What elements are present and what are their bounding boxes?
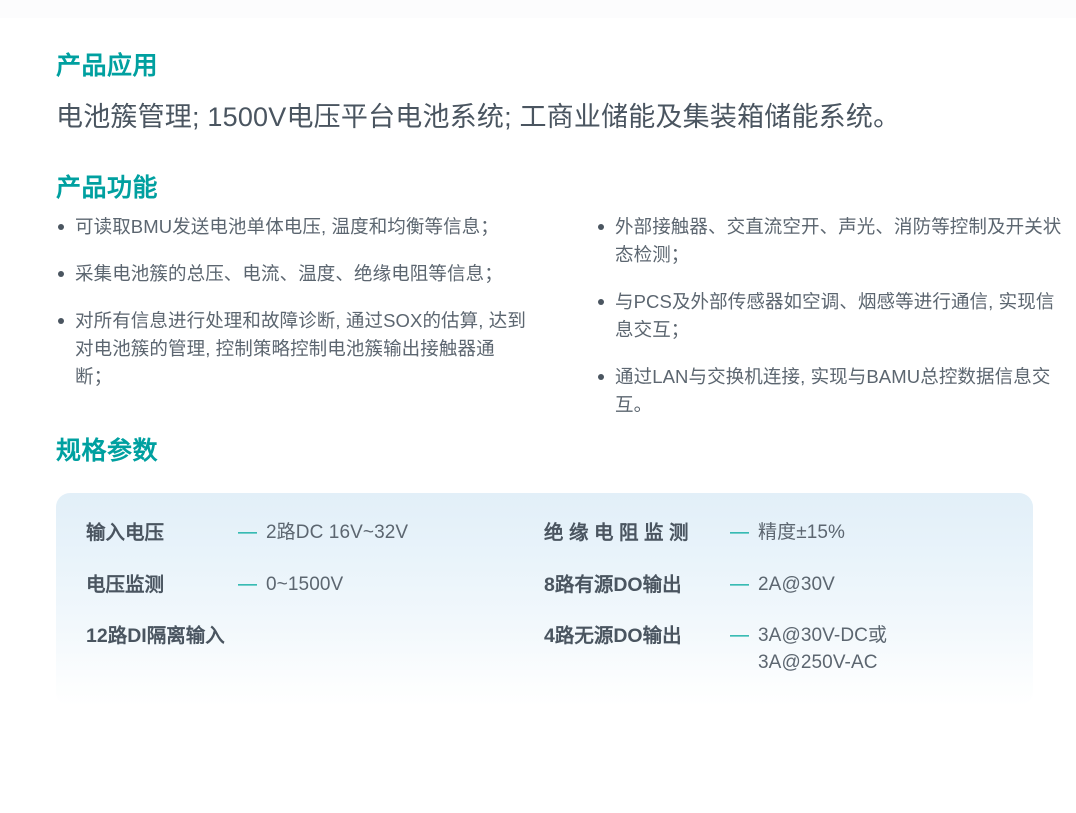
spec-value: 3A@30V-DC或 3A@250V-AC [758,622,887,677]
product-application-heading: 产品应用 [56,54,1020,79]
bullet-dot-icon [598,374,604,380]
product-function-section: 产品功能 可读取BMU发送电池单体电压, 温度和均衡等信息； 采集电池簇的总压、… [56,176,1020,439]
bullet-dot-icon [598,224,604,230]
feature-list-item-text: 可读取BMU发送电池单体电压, 温度和均衡等信息； [75,216,499,237]
product-spec-page: 产品应用 电池簇管理; 1500V电压平台电池系统; 工商业储能及集装箱储能系统… [0,0,1076,813]
product-function-right-column: 外部接触器、交直流空开、声光、消防等控制及开关状态检测； 与PCS及外部传感器如… [596,213,1068,439]
spec-row: 8路有源DO输出 — 2A@30V [544,571,1032,599]
specification-columns: 输入电压 — 2路DC 16V~32V 电压监测 — 0~1500V 12路DI… [56,519,1033,700]
scan-artifact-band [0,0,1076,18]
spec-key: 8路有源DO输出 [544,571,730,599]
feature-list-item: 通过LAN与交换机连接, 实现与BAMU总控数据信息交互。 [596,363,1068,419]
spec-separator-dash-icon: — [730,571,758,599]
spec-value: 0~1500V [266,571,343,599]
feature-list-item-text: 外部接触器、交直流空开、声光、消防等控制及开关状态检测； [615,216,1061,265]
spec-key: 电压监测 [86,571,238,599]
spec-separator-dash-icon: — [730,519,758,547]
spec-row: 输入电压 — 2路DC 16V~32V [86,519,544,547]
spec-separator-dash-icon: — [238,519,266,547]
bullet-dot-icon [58,318,64,324]
product-function-columns: 可读取BMU发送电池单体电压, 温度和均衡等信息； 采集电池簇的总压、电流、温度… [56,213,1020,439]
feature-list-item-text: 对所有信息进行处理和故障诊断, 通过SOX的估算, 达到对电池簇的管理, 控制策… [75,310,526,387]
spec-separator-dash-icon: — [238,571,266,599]
spec-row: 电压监测 — 0~1500V [86,571,544,599]
spec-row: 4路无源DO输出 — 3A@30V-DC或 3A@250V-AC [544,622,1032,677]
product-application-text: 电池簇管理; 1500V电压平台电池系统; 工商业储能及集装箱储能系统。 [56,101,1020,135]
feature-list-item-text: 与PCS及外部传感器如空调、烟感等进行通信, 实现信息交互； [615,291,1054,340]
product-function-left-column: 可读取BMU发送电池单体电压, 温度和均衡等信息； 采集电池簇的总压、电流、温度… [56,213,528,439]
spec-key: 绝缘电阻监测 [544,519,730,547]
specification-section: 规格参数 输入电压 — 2路DC 16V~32V 电压监测 — 0~1500V [56,439,1020,706]
spec-row: 绝缘电阻监测 — 精度±15% [544,519,1032,547]
feature-list-item: 采集电池簇的总压、电流、温度、绝缘电阻等信息； [56,260,528,288]
feature-list-item: 可读取BMU发送电池单体电压, 温度和均衡等信息； [56,213,528,241]
feature-list-item: 对所有信息进行处理和故障诊断, 通过SOX的估算, 达到对电池簇的管理, 控制策… [56,307,528,391]
spec-key: 12路DI隔离输入 [86,622,225,650]
specification-panel: 输入电压 — 2路DC 16V~32V 电压监测 — 0~1500V 12路DI… [56,493,1033,706]
feature-list-item: 外部接触器、交直流空开、声光、消防等控制及开关状态检测； [596,213,1068,269]
specification-right-column: 绝缘电阻监测 — 精度±15% 8路有源DO输出 — 2A@30V 4路无源DO… [544,519,1032,700]
product-application-section: 产品应用 电池簇管理; 1500V电压平台电池系统; 工商业储能及集装箱储能系统… [56,0,1020,135]
spec-separator-dash-icon: — [730,622,758,650]
bullet-dot-icon [598,299,604,305]
bullet-dot-icon [58,224,64,230]
spec-value: 2A@30V [758,571,835,599]
bullet-dot-icon [58,271,64,277]
feature-list-item: 与PCS及外部传感器如空调、烟感等进行通信, 实现信息交互； [596,288,1068,344]
feature-list-item-text: 采集电池簇的总压、电流、温度、绝缘电阻等信息； [75,263,503,284]
spec-value: 精度±15% [758,519,845,547]
feature-list-item-text: 通过LAN与交换机连接, 实现与BAMU总控数据信息交互。 [615,366,1050,415]
spec-value: 2路DC 16V~32V [266,519,408,547]
spec-row: 12路DI隔离输入 — [86,622,544,650]
specification-left-column: 输入电压 — 2路DC 16V~32V 电压监测 — 0~1500V 12路DI… [56,519,544,700]
spec-key: 4路无源DO输出 [544,622,730,650]
specification-heading: 规格参数 [56,439,1020,464]
product-function-heading: 产品功能 [56,176,1020,201]
spec-key: 输入电压 [86,519,238,547]
